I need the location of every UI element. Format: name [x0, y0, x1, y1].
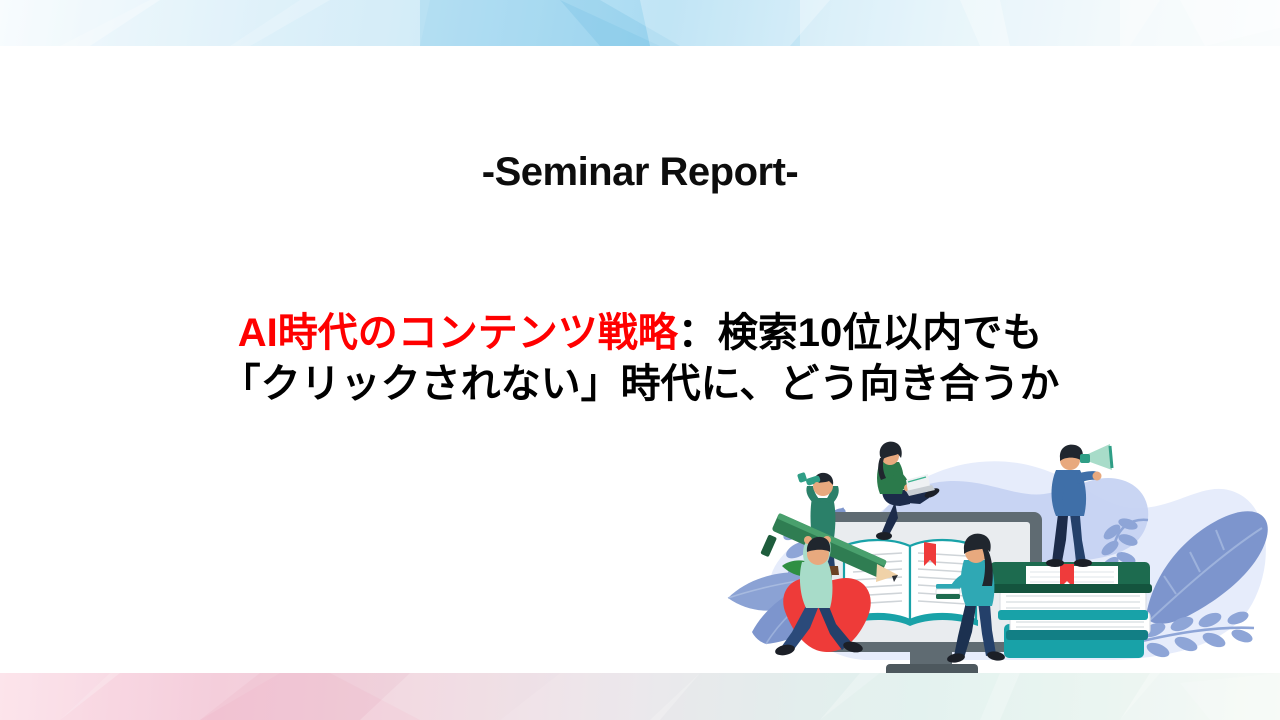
title-line-1-rest: ：検索10位以内でも [678, 311, 1043, 355]
top-decorative-band [0, 0, 1280, 46]
bottom-band-shapes [0, 673, 1280, 720]
stack-of-books [988, 562, 1152, 658]
slide-root: -Seminar Report- AI時代のコンテンツ戦略：検索10位以内でも … [0, 0, 1280, 720]
top-band-shapes [0, 0, 1280, 46]
title-line-1: AI時代のコンテンツ戦略：検索10位以内でも [0, 308, 1280, 359]
title-line-2: 「クリックされない」時代に、どう向き合うか [0, 359, 1280, 410]
bottom-decorative-band [0, 673, 1280, 720]
megaphone-icon [1080, 444, 1112, 470]
seminar-kicker: -Seminar Report- [0, 150, 1280, 195]
page-title: AI時代のコンテンツ戦略：検索10位以内でも 「クリックされない」時代に、どう向… [0, 308, 1280, 410]
illustration-svg [714, 436, 1280, 680]
education-illustration [714, 436, 1280, 680]
title-highlight: AI時代のコンテンツ戦略 [238, 311, 678, 355]
